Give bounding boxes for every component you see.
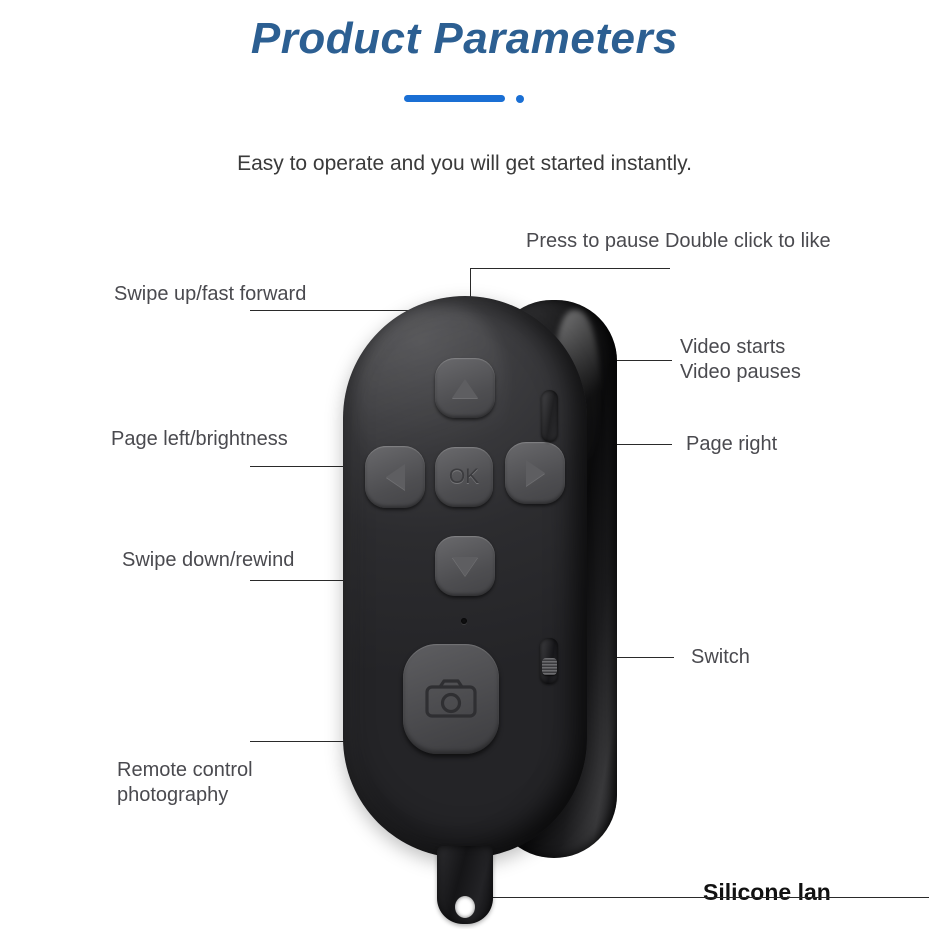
callout-press-pause: Press to pause Double click to like bbox=[526, 229, 831, 254]
device-side-button[interactable] bbox=[541, 390, 558, 442]
switch-knob[interactable] bbox=[542, 658, 557, 675]
leader-line-silicone-lanyard bbox=[492, 897, 929, 898]
button-up[interactable] bbox=[435, 358, 495, 418]
button-ok-label: OK bbox=[449, 465, 479, 489]
callout-switch: Switch bbox=[691, 645, 750, 670]
silicone-lanyard bbox=[437, 846, 493, 924]
callout-swipe-up: Swipe up/fast forward bbox=[114, 282, 306, 307]
button-left[interactable] bbox=[365, 446, 425, 508]
camera-icon bbox=[424, 678, 478, 720]
product-parameters-infographic: Product Parameters Easy to operate and y… bbox=[0, 0, 929, 929]
lanyard-hole bbox=[455, 896, 475, 918]
led-indicator-dot bbox=[461, 618, 467, 624]
triangle-up-icon bbox=[452, 379, 478, 398]
callout-silicone-lanyard: Silicone lan bbox=[703, 878, 831, 907]
callout-page-right: Page right bbox=[686, 432, 777, 457]
button-ok[interactable]: OK bbox=[435, 447, 493, 507]
remote-control-device: OK bbox=[341, 296, 621, 862]
callout-swipe-down: Swipe down/rewind bbox=[122, 548, 294, 573]
callout-page-left: Page left/brightness bbox=[111, 427, 288, 452]
callout-remote-photography: Remote control photography bbox=[117, 758, 253, 809]
divider-dot bbox=[516, 95, 524, 103]
page-subtitle: Easy to operate and you will get started… bbox=[0, 152, 929, 176]
button-camera-shutter[interactable] bbox=[403, 644, 499, 754]
leader-line-press-pause bbox=[470, 268, 670, 269]
button-right[interactable] bbox=[505, 442, 565, 504]
triangle-down-icon bbox=[452, 557, 478, 576]
device-power-switch[interactable] bbox=[540, 638, 558, 684]
triangle-right-icon bbox=[526, 460, 545, 486]
leader-line-switch bbox=[612, 657, 674, 658]
triangle-left-icon bbox=[386, 464, 405, 490]
divider-bar bbox=[404, 95, 505, 102]
callout-video-states: Video starts Video pauses bbox=[680, 335, 801, 386]
device-front-face: OK bbox=[343, 296, 587, 858]
page-title: Product Parameters bbox=[0, 14, 929, 64]
button-down[interactable] bbox=[435, 536, 495, 596]
